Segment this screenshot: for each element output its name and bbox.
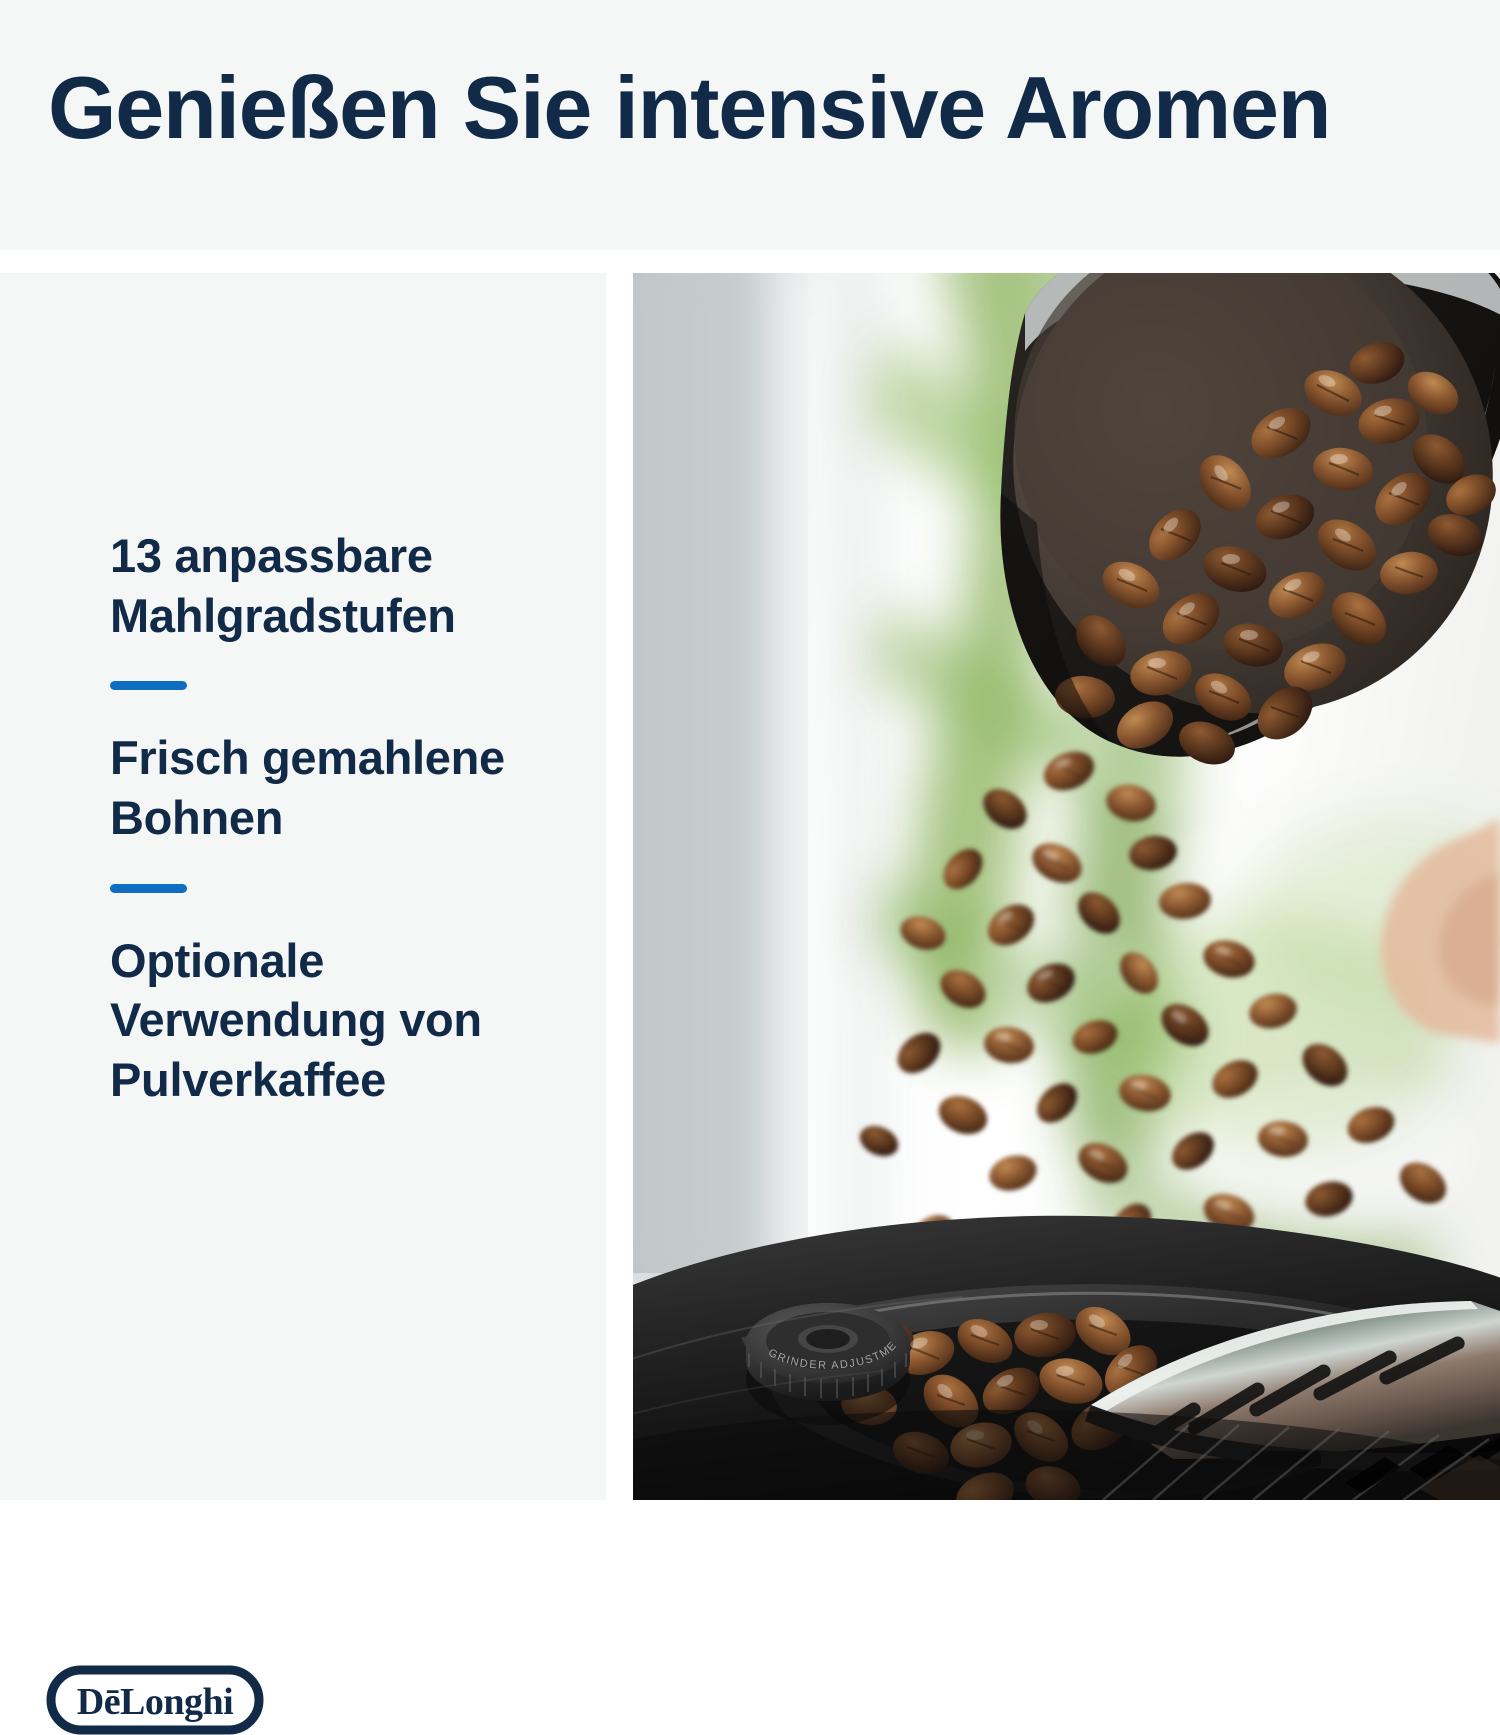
feature-list: 13 anpassbare Mahlgradstufen Frisch gema… (110, 526, 580, 1110)
product-feature-banner: Genießen Sie intensive Aromen 13 anpassb… (0, 0, 1500, 1500)
feature-panel: 13 anpassbare Mahlgradstufen Frisch gema… (0, 273, 606, 1500)
feature-divider-1 (110, 681, 187, 690)
feature-item-1: 13 anpassbare Mahlgradstufen (110, 526, 580, 645)
feature-divider-2 (110, 884, 187, 893)
feature-item-2: Frisch gemahlene Bohnen (110, 728, 580, 847)
feature-item-3: Optionale Verwendung von Pulverkaffee (110, 931, 580, 1110)
product-photo: GRINDER ADJUSTMENT (633, 273, 1500, 1500)
page-title: Genießen Sie intensive Aromen (48, 64, 1330, 152)
delonghi-logo: DēLonghi (46, 1665, 264, 1735)
header-band: Genießen Sie intensive Aromen (0, 0, 1500, 250)
logo-wordmark: DēLonghi (77, 1681, 233, 1723)
